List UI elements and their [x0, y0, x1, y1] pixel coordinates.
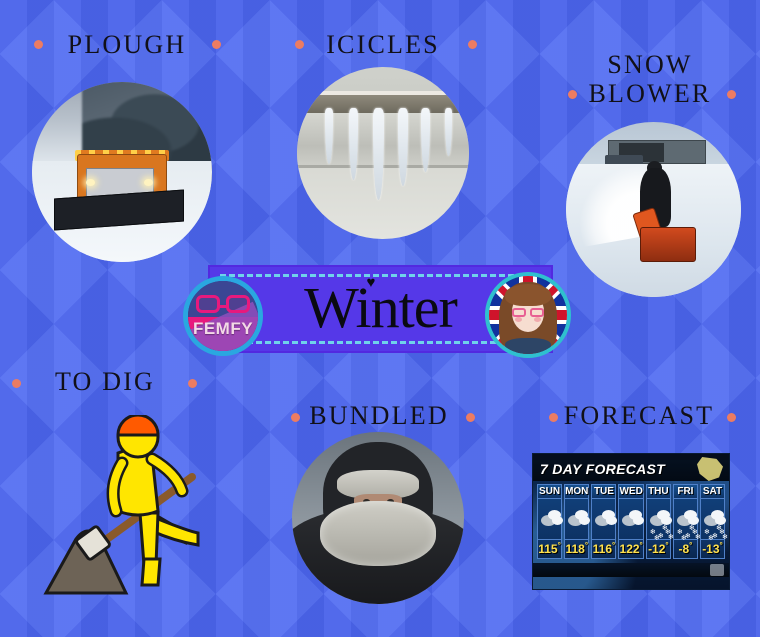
femfy-logo: FEMFY — [183, 276, 263, 356]
forecast-temperature: 115° — [538, 539, 561, 558]
forecast-day-column: MON118° — [564, 484, 589, 559]
avatar — [485, 272, 571, 358]
photo-plough — [32, 82, 212, 262]
avatar-body — [505, 338, 552, 354]
snowflake-icon: ❄ — [716, 525, 722, 532]
forecast-title: 7 DAY FORECAST — [540, 461, 665, 477]
decorative-dot — [34, 40, 43, 49]
decorative-dot — [188, 379, 197, 388]
winter-vocabulary-poster: PLOUGH ICICLES SNOW BLOWER TO DIG BUNDLE… — [0, 0, 760, 637]
forecast-day-name: TUE — [592, 485, 615, 499]
photo-icicles — [297, 67, 469, 239]
forecast-bottom-bar — [533, 563, 729, 577]
avatar-fringe — [505, 284, 552, 306]
region-map-icon — [697, 457, 723, 481]
forecast-day-name: SUN — [538, 485, 561, 499]
snowflake-icon: ❄ — [695, 534, 701, 541]
label-icicles: ICICLES — [310, 30, 456, 59]
forecast-day-name: WED — [619, 485, 642, 499]
forecast-day-name: MON — [565, 485, 588, 499]
decorative-dot — [568, 90, 577, 99]
avatar-glasses-icon — [512, 308, 545, 317]
snowflake-icon: ❄ — [708, 535, 714, 542]
forecast-temperature: 122° — [619, 539, 642, 558]
decorative-dot — [212, 40, 221, 49]
forecast-day-name: SAT — [701, 485, 724, 499]
weather-cloudy-icon — [619, 499, 642, 539]
forecast-panel: 7 DAY FORECAST SUN115°MON118°TUE116°WED1… — [532, 453, 730, 590]
forecast-grid: SUN115°MON118°TUE116°WED122°THU❄❄❄❄❄❄-12… — [533, 481, 729, 563]
photo-bundled — [292, 432, 464, 604]
label-bundled: BUNDLED — [305, 401, 453, 430]
forecast-title-row: 7 DAY FORECAST — [533, 460, 729, 481]
weather-cloudy-icon — [565, 499, 588, 539]
snowflake-icon: ❄ — [654, 535, 660, 542]
weather-snow-icon: ❄❄❄❄❄❄ — [701, 499, 724, 539]
forecast-temperature: 118° — [565, 539, 588, 558]
weather-cloudy-icon — [538, 499, 561, 539]
forecast-day-column: FRI❄❄❄❄❄❄-8° — [673, 484, 698, 559]
forecast-day-column: WED122° — [618, 484, 643, 559]
snowflake-icon: ❄ — [722, 534, 728, 541]
label-plough: PLOUGH — [54, 30, 200, 59]
glasses-bridge — [217, 305, 228, 308]
forecast-day-column: SUN115° — [537, 484, 562, 559]
forecast-day-name: THU — [647, 485, 670, 499]
femfy-wordmark: FEMFY — [188, 319, 258, 339]
decorative-dot — [468, 40, 477, 49]
forecast-day-name: FRI — [674, 485, 697, 499]
illustration-to-dig — [40, 415, 215, 605]
label-to-dig: TO DIG — [40, 367, 170, 396]
label-snow-blower: SNOW BLOWER — [580, 50, 720, 108]
decorative-dot — [12, 379, 21, 388]
weather-snow-icon: ❄❄❄❄❄❄ — [647, 499, 670, 539]
forecast-day-column: TUE116° — [591, 484, 616, 559]
snowflake-icon: ❄ — [662, 525, 668, 532]
decorative-dot — [295, 40, 304, 49]
forecast-day-column: SAT❄❄❄❄❄❄-13° — [700, 484, 725, 559]
station-logo-icon — [710, 564, 724, 576]
glasses-right-lens — [226, 295, 250, 313]
decorative-dot — [291, 413, 300, 422]
glasses-left-lens — [196, 295, 220, 313]
snowflake-icon: ❄ — [689, 525, 695, 532]
photo-snow-blower — [566, 122, 741, 297]
weather-snow-icon: ❄❄❄❄❄❄ — [674, 499, 697, 539]
decorative-dot — [466, 413, 475, 422]
forecast-temperature: 116° — [592, 539, 615, 558]
snowflake-icon: ❄ — [681, 535, 687, 542]
decorative-dot — [727, 413, 736, 422]
snowflake-icon: ❄ — [668, 534, 674, 541]
weather-cloudy-icon — [592, 499, 615, 539]
forecast-day-column: THU❄❄❄❄❄❄-12° — [646, 484, 671, 559]
label-forecast: FORECAST — [557, 401, 721, 430]
decorative-dot — [727, 90, 736, 99]
